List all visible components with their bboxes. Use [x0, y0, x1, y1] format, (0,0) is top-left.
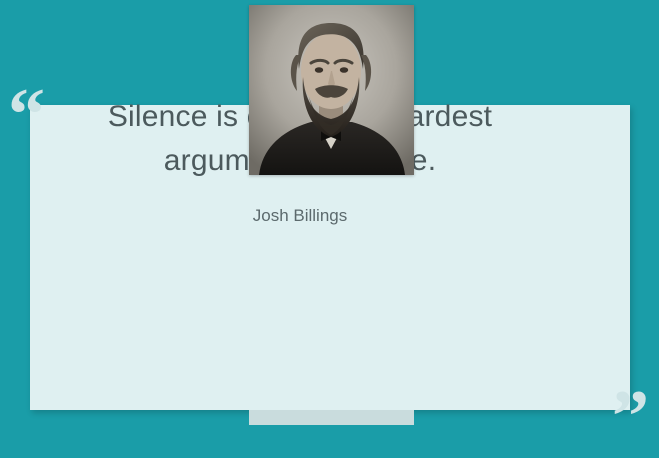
portrait-image	[249, 5, 414, 175]
quote-author: Josh Billings	[55, 206, 545, 226]
open-quote-icon: “	[8, 78, 45, 152]
close-quote-icon: ”	[612, 380, 649, 454]
portrait-photo	[249, 5, 414, 175]
card-bottom-strip	[249, 410, 414, 425]
